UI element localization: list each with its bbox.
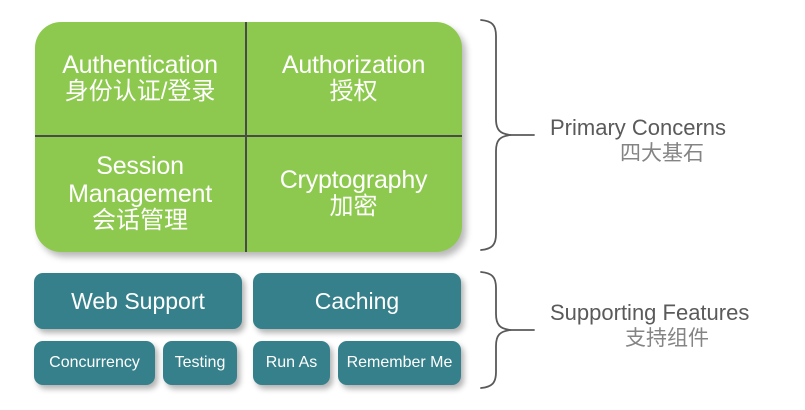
support-box-remember-me[interactable]: Remember Me bbox=[338, 341, 461, 385]
group-label-primary-concerns: Primary Concerns 四大基石 bbox=[550, 115, 780, 167]
support-box-caching[interactable]: Caching bbox=[253, 273, 461, 329]
support-box-web-support-label: Web Support bbox=[71, 288, 205, 314]
group-label-supporting-features: Supporting Features 支持组件 bbox=[550, 300, 790, 352]
quadrant-cryptography-title: Cryptography bbox=[280, 166, 428, 194]
quadrant-horizontal-divider bbox=[35, 135, 462, 137]
brace-supporting-features bbox=[478, 266, 538, 394]
group-label-supporting-features-en: Supporting Features bbox=[550, 300, 790, 326]
quadrant-authorization[interactable]: Authorization 授权 bbox=[245, 22, 462, 135]
quadrant-authorization-subtitle: 授权 bbox=[330, 79, 378, 106]
group-label-primary-concerns-zh: 四大基石 bbox=[550, 141, 780, 166]
quadrant-authorization-title: Authorization bbox=[282, 51, 425, 79]
quadrant-cryptography[interactable]: Cryptography 加密 bbox=[245, 135, 462, 252]
quadrant-authentication-title: Authentication bbox=[62, 51, 218, 79]
support-box-concurrency-label: Concurrency bbox=[49, 354, 140, 372]
primary-concerns-panel: Authentication 身份认证/登录 Authorization 授权 … bbox=[35, 22, 462, 252]
support-box-remember-me-label: Remember Me bbox=[347, 354, 453, 372]
quadrant-session-management-title: Session Management bbox=[68, 152, 212, 208]
primary-concerns-quadrant-grid: Authentication 身份认证/登录 Authorization 授权 … bbox=[35, 22, 462, 252]
quadrant-authentication[interactable]: Authentication 身份认证/登录 bbox=[35, 22, 245, 135]
group-label-supporting-features-zh: 支持组件 bbox=[550, 326, 790, 351]
quadrant-session-management[interactable]: Session Management 会话管理 bbox=[35, 135, 245, 252]
support-box-run-as[interactable]: Run As bbox=[253, 341, 330, 385]
quadrant-session-management-subtitle: 会话管理 bbox=[92, 208, 188, 235]
quadrant-vertical-divider bbox=[245, 22, 247, 252]
group-label-primary-concerns-en: Primary Concerns bbox=[550, 115, 780, 141]
quadrant-authentication-subtitle: 身份认证/登录 bbox=[65, 79, 216, 106]
support-box-caching-label: Caching bbox=[315, 288, 399, 314]
support-box-testing[interactable]: Testing bbox=[163, 341, 237, 385]
support-box-concurrency[interactable]: Concurrency bbox=[34, 341, 155, 385]
support-box-web-support[interactable]: Web Support bbox=[34, 273, 242, 329]
brace-primary-concerns bbox=[478, 14, 538, 258]
diagram-canvas: Authentication 身份认证/登录 Authorization 授权 … bbox=[0, 0, 805, 410]
support-box-run-as-label: Run As bbox=[266, 354, 318, 372]
support-box-testing-label: Testing bbox=[175, 354, 226, 372]
quadrant-cryptography-subtitle: 加密 bbox=[330, 194, 378, 221]
